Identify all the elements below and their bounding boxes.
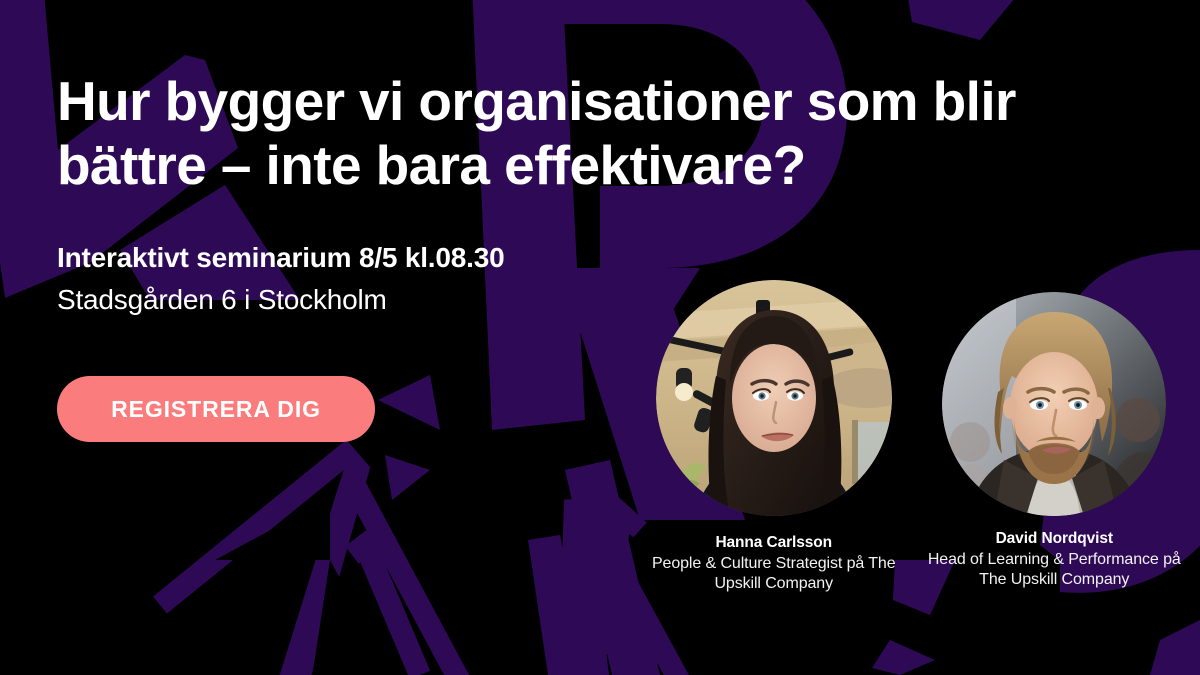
shape-purple-outline-a	[160, 455, 358, 675]
shape-purple-tri-4	[872, 640, 935, 675]
event-datetime: Interaktivt seminarium 8/5 kl.08.30	[57, 240, 1117, 276]
shape-purple-outline-a2	[352, 545, 420, 675]
speaker-role: People & Culture Strategist på The Upski…	[640, 554, 908, 595]
avatar	[942, 292, 1166, 516]
speaker-list: Hanna Carlsson People & Culture Strategi…	[620, 280, 1185, 595]
shape-purple-outline-n2	[570, 500, 600, 675]
avatar	[656, 280, 892, 516]
shape-purple-tri-2	[385, 455, 430, 500]
register-button[interactable]: REGISTRERA DIG	[57, 376, 375, 442]
shape-purple-tri-3	[1150, 620, 1200, 675]
shape-cut-n-inner	[310, 560, 400, 675]
speaker-name: Hanna Carlsson	[715, 534, 832, 552]
shape-purple-outline-n	[285, 480, 470, 675]
shape-purple-notch-top	[905, 0, 1030, 40]
speaker-role: Head of Learning & Performance på The Up…	[924, 550, 1186, 591]
portrait-david-nordqvist	[942, 292, 1166, 516]
shape-cut-a-inner	[215, 498, 330, 560]
speaker-name: David Nordqvist	[996, 530, 1113, 548]
speaker-card: Hanna Carlsson People & Culture Strategi…	[640, 280, 908, 595]
speaker-card: David Nordqvist Head of Learning & Perfo…	[924, 292, 1186, 591]
shape-purple-bar-1	[578, 480, 620, 675]
event-promo-banner: Hur bygger vi organisationer som blir bä…	[0, 0, 1200, 675]
page-title: Hur bygger vi organisationer som blir bä…	[57, 70, 1117, 198]
portrait-hanna-carlsson	[656, 280, 892, 516]
